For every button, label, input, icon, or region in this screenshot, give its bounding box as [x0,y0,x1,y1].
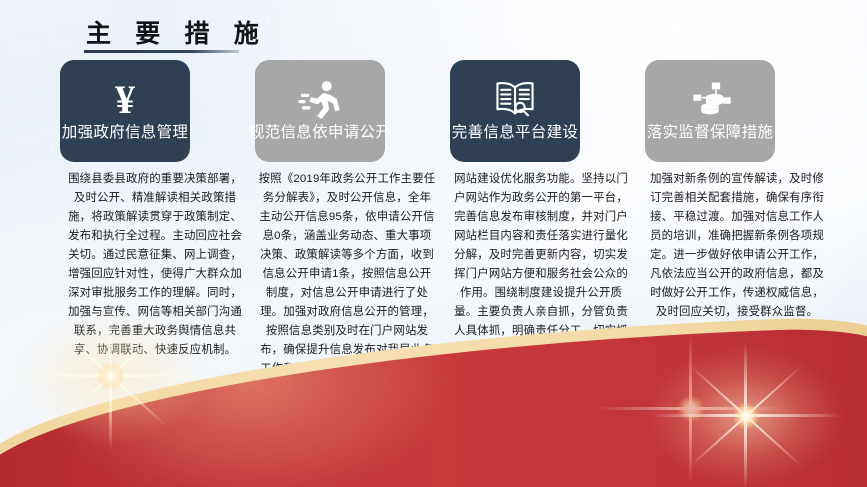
measure-body-3: 网站建设优化服务功能。坚持以门户网站作为政务公开的第一平台，完善信息发布审核制度… [452,170,630,379]
measure-card-1[interactable]: ¥ [60,60,190,162]
slide-canvas: 主 要 措 施 ¥ 加强政府信息管理 规范信息依申请公开 [0,0,867,487]
light-flare-right-small [690,408,691,409]
measure-card-3-label: 完善信息平台建设 [420,120,610,142]
open-book-search-icon [491,76,539,124]
measure-card-3[interactable] [450,60,580,162]
yen-currency-icon: ¥ [115,76,135,124]
measure-card-4[interactable] [645,60,775,162]
running-person-icon [297,76,343,124]
measure-body-2: 按照《2019年政务公开工作主要任务分解表》，及时公开信息，全年主动公开信息95… [258,170,436,379]
measure-body-1: 围绕县委县政府的重要决策部署，及时公开、精准解读相关政策措施，将政策解读贯穿于政… [66,170,244,360]
measure-card-1-label: 加强政府信息管理 [30,120,220,142]
title-underline-rule [84,50,239,53]
measure-body-4: 加强对新条例的宣传解读，及时修订完善相关配套措施，确保有序衔接、平稳过渡。加强对… [648,170,826,322]
light-flare-right [745,415,746,416]
measure-card-2[interactable] [255,60,385,162]
measure-card-2-label: 规范信息依申请公开 [225,120,415,142]
measure-card-4-label: 落实监督保障措施 [615,120,805,142]
light-flare-left [110,375,111,376]
page-title: 主 要 措 施 [86,14,268,50]
database-stack-icon [686,76,734,124]
